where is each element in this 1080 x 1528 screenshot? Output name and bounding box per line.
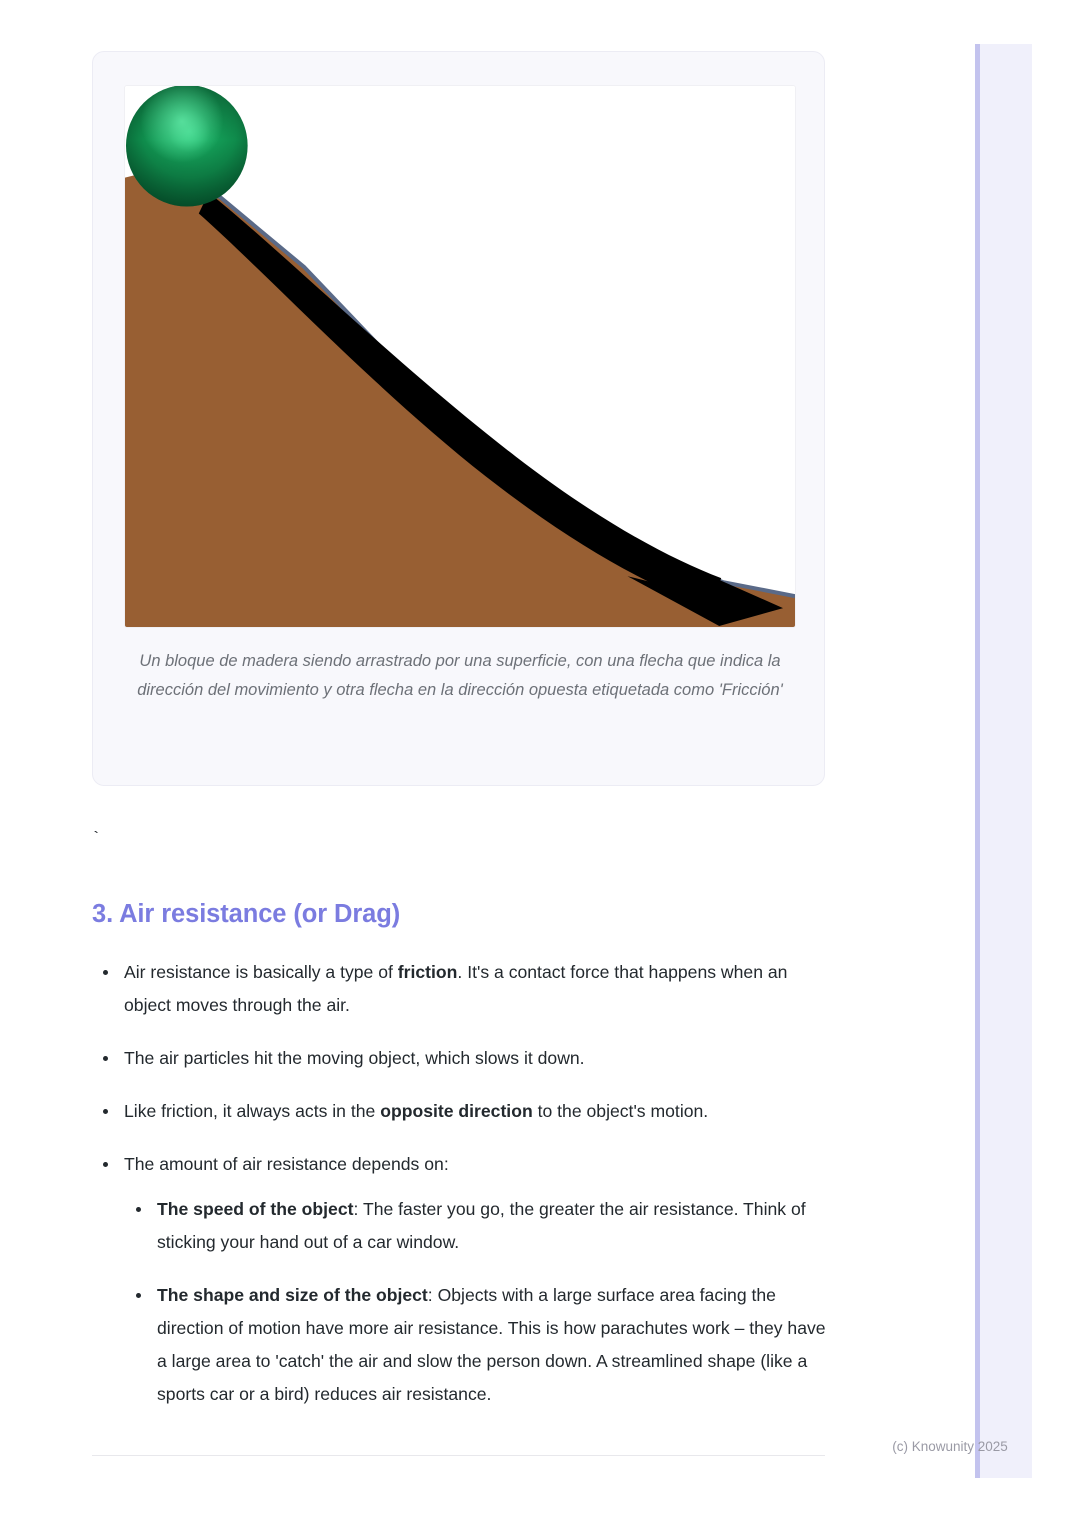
- text-run: Like friction, it always acts in the: [124, 1101, 380, 1121]
- bullet-list: Air resistance is basically a type of fr…: [92, 956, 832, 1411]
- text-run-bold: opposite direction: [380, 1101, 533, 1121]
- text-run: Air resistance is basically a type of: [124, 962, 398, 982]
- figure-caption: Un bloque de madera siendo arrastrado po…: [124, 647, 796, 705]
- nested-bullet-list: The speed of the object: The faster you …: [124, 1193, 832, 1411]
- figure-card: Un bloque de madera siendo arrastrado po…: [92, 51, 825, 786]
- list-item: Air resistance is basically a type of fr…: [92, 956, 832, 1022]
- text-run-bold: The speed of the object: [157, 1199, 354, 1219]
- content-column: 3. Air resistance (or Drag) Air resistan…: [92, 898, 832, 1417]
- list-item-text: The amount of air resistance depends on:: [124, 1154, 449, 1174]
- text-run-bold: friction: [398, 962, 458, 982]
- nested-list-item: The speed of the object: The faster you …: [124, 1193, 832, 1259]
- inclined-plane-ball-friction-illustration: [125, 86, 795, 627]
- page-title: 3. Air resistance (or Drag): [92, 898, 832, 930]
- text-run: to the object's motion.: [533, 1101, 708, 1121]
- nested-list-item: The shape and size of the object: Object…: [124, 1279, 832, 1411]
- list-item-text: Air resistance is basically a type of fr…: [124, 962, 787, 1015]
- text-run-bold: The shape and size of the object: [157, 1285, 428, 1305]
- footer-divider: [92, 1455, 825, 1456]
- text-run: The air particles hit the moving object,…: [124, 1048, 585, 1068]
- stray-backtick-text: `: [91, 826, 101, 854]
- green-ball: [126, 86, 248, 207]
- right-side-rail: [975, 44, 1032, 1478]
- scrollbar-thumb[interactable]: [975, 44, 980, 1478]
- list-item: The amount of air resistance depends on:…: [92, 1148, 832, 1411]
- list-item: Like friction, it always acts in the opp…: [92, 1095, 832, 1128]
- nested-list-item-text: The shape and size of the object: Object…: [157, 1285, 826, 1404]
- list-item: The air particles hit the moving object,…: [92, 1042, 832, 1075]
- nested-list-item-text: The speed of the object: The faster you …: [157, 1199, 806, 1252]
- list-item-text: The air particles hit the moving object,…: [124, 1048, 585, 1068]
- figure-image-frame: [124, 85, 796, 628]
- list-item-text: Like friction, it always acts in the opp…: [124, 1101, 708, 1121]
- footer-copyright: (c) Knowunity 2025: [860, 1437, 1040, 1457]
- text-run: The amount of air resistance depends on:: [124, 1154, 449, 1174]
